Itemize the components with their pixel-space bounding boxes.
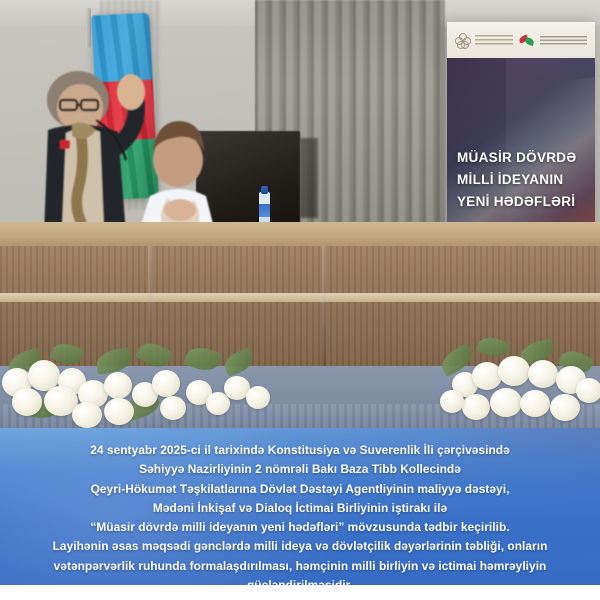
caption-line-6: Layihənin əsas məqsədi gənclərdə milli i… <box>14 537 586 556</box>
caption-line-1: 24 sentyabr 2025-ci il tarixində Konstit… <box>14 441 586 460</box>
caption-text-block: 24 sentyabr 2025-ci il tarixində Konstit… <box>0 428 600 585</box>
caption-line-8: gücləndirilməsidir. <box>14 576 586 585</box>
caption-line-4: Mədəni İnkişaf və Dialoq İctimai Birliyi… <box>14 499 586 518</box>
caption-overlay: 24 sentyabr 2025-ci il tarixində Konstit… <box>0 428 600 585</box>
event-poster: MÜASİR DÖVRDƏ MİLLİ İDEYANIN YENİ HƏDƏFL… <box>0 0 600 600</box>
caption-line-2: Səhiyyə Nazirliyinin 2 nömrəli Bakı Baza… <box>14 460 586 479</box>
footer-white-strip <box>0 585 600 600</box>
caption-line-3: Qeyri-Hökumət Təşkilatlarına Dövlət Dəst… <box>14 480 586 499</box>
caption-line-5: “Müasir dövrdə milli ideyanın yeni hədəf… <box>14 518 586 537</box>
caption-line-7: vətənpərvərlik ruhunda formalaşdırılması… <box>14 557 586 576</box>
